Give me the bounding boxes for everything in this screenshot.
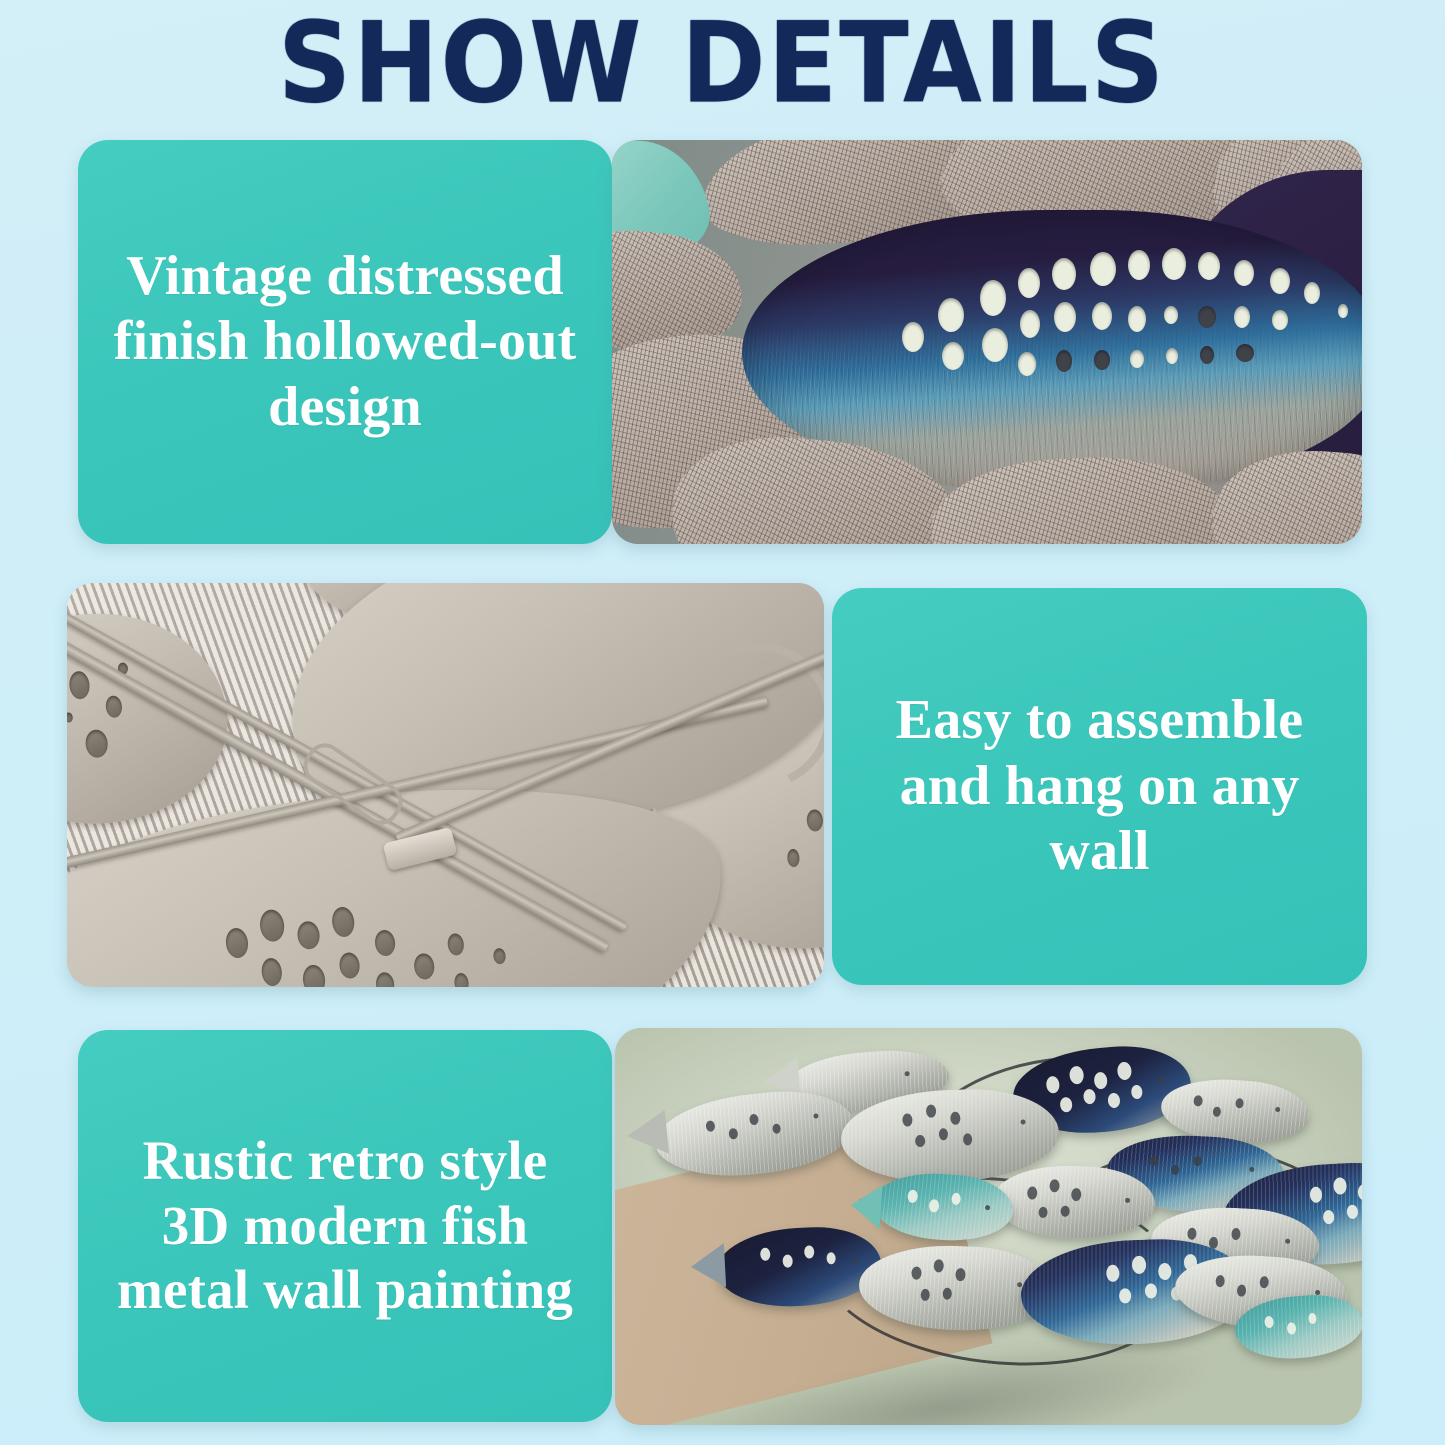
feature-panel-easy-assemble: Easy to assemble and hang on any wall [832,588,1367,985]
feature-panel-rustic-retro: Rustic retro style 3D modern fish metal … [78,1030,612,1422]
mounted-school-of-fish-photo [615,1028,1362,1425]
feature-panel-vintage-finish: Vintage distressed finish hollowed-out d… [78,140,612,544]
assembly-detail-photo [67,583,824,987]
page-title: SHOW DETAILS [278,7,1166,118]
macro-fish-closeup-photo [612,140,1362,544]
feature-panel-rustic-retro-label: Rustic retro style 3D modern fish metal … [87,1129,603,1322]
page-header: SHOW DETAILS [0,4,1445,122]
feature-panel-easy-assemble-label: Easy to assemble and hang on any wall [857,688,1343,885]
feature-panel-vintage-finish-label: Vintage distressed finish hollowed-out d… [92,244,598,441]
